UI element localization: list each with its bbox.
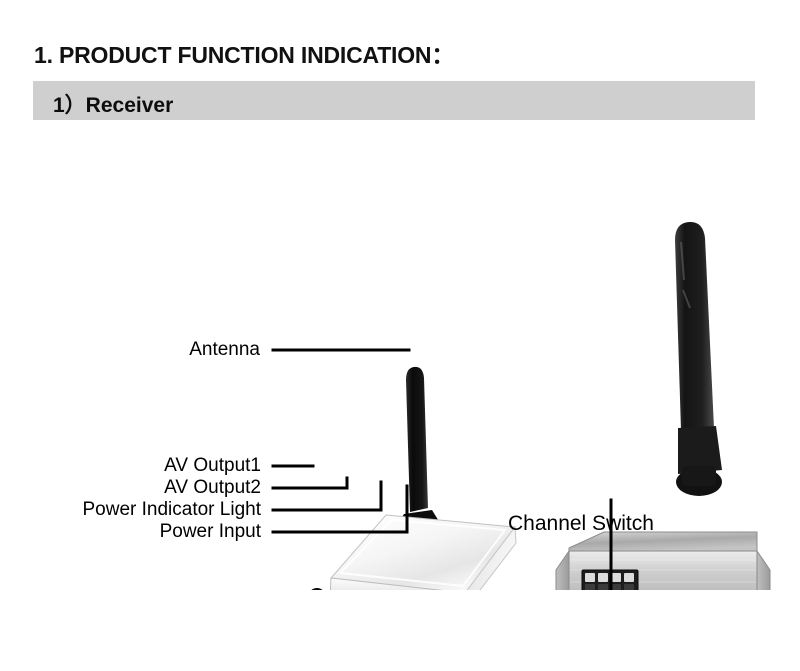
page-title: 1. PRODUCT FUNCTION INDICATION： [34,36,454,70]
section-heading-label: 1）Receiver [53,89,173,119]
callout-av-output-2: AV Output2 [164,478,261,497]
callout-channel-switch: Channel Switch [508,513,654,534]
product-diagram: AV OUT1 AV OUT2 DC IN ⏚ [0,130,800,590]
callout-av-output-1: AV Output1 [164,456,261,475]
antenna-left [396,367,440,526]
section-heading-bar: 1）Receiver [33,81,755,120]
antenna-right [675,222,722,496]
callout-antenna: Antenna [189,340,260,359]
device-receiver-top-view: AV OUT1 AV OUT2 DC IN ⏚ [308,367,516,590]
leader-av-output-2 [273,478,347,488]
port-av-out-1 [309,588,326,590]
leader-power-indicator-light [273,482,381,510]
callout-power-input: Power Input [160,522,261,541]
callout-power-indicator-light: Power Indicator Light [83,500,262,519]
